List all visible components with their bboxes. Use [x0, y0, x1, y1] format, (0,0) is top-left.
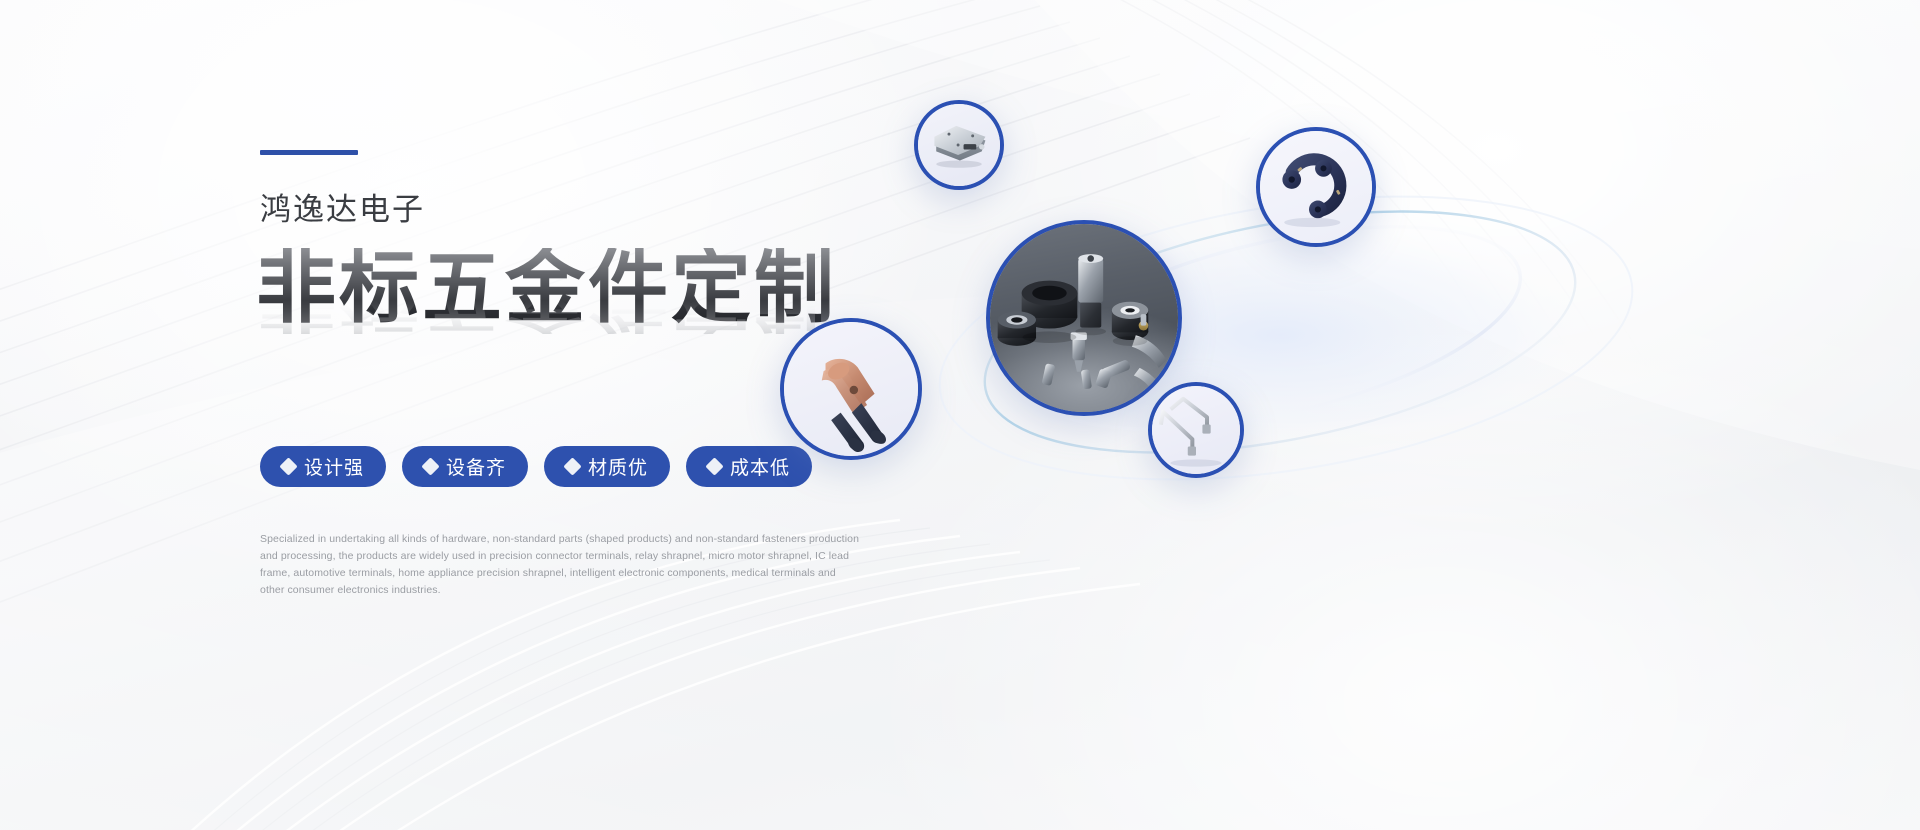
- feature-tag-label: 设计强: [304, 453, 364, 480]
- diamond-icon: [421, 457, 439, 475]
- feature-tag-label: 设备齐: [446, 453, 506, 480]
- accent-rule: [260, 150, 358, 155]
- bent-terminal-pins-photo[interactable]: [1148, 382, 1244, 478]
- metal-enclosure-box-photo[interactable]: [914, 100, 1004, 190]
- feature-tag-label: 材质优: [588, 453, 648, 480]
- feature-tag-equipment[interactable]: 设备齐: [402, 446, 528, 487]
- product-visual-cluster: [930, 120, 1690, 540]
- battery-clamp-photo[interactable]: [780, 318, 922, 460]
- diamond-icon: [279, 457, 297, 475]
- brand-name: 鸿逸达电子: [260, 191, 880, 228]
- page-title: 非标五金件定制: [256, 248, 880, 328]
- hero-banner: 鸿逸达电子 非标五金件定制 非标五金件定制 设计强 设备齐 材质优 成本低: [0, 0, 1920, 830]
- diamond-icon: [705, 457, 723, 475]
- feature-tag-label: 成本低: [730, 453, 790, 480]
- banner-description: Specialized in undertaking all kinds of …: [260, 531, 860, 599]
- feature-tag-material[interactable]: 材质优: [544, 446, 670, 487]
- retaining-ring-photo[interactable]: [1256, 127, 1376, 247]
- feature-tag-design[interactable]: 设计强: [260, 446, 386, 487]
- diamond-icon: [563, 457, 581, 475]
